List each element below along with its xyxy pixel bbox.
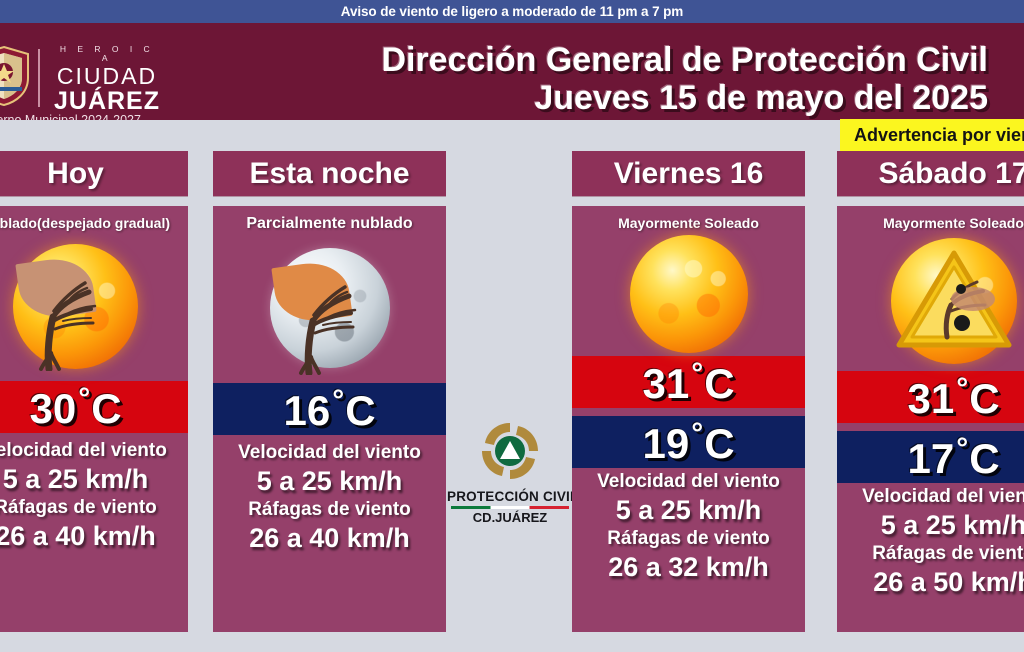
card-weather-icon [213, 233, 446, 383]
card-condition-text: Nublado(despejado gradual) [0, 206, 188, 231]
wind-gusts-label: Ráfagas de viento [0, 496, 188, 520]
card-high-temp-band: 31°C [572, 356, 805, 408]
card-day-header: Esta noche [213, 151, 446, 196]
wind-speed-label: Velocidad del viento [213, 441, 446, 465]
sun-icon [630, 235, 748, 353]
forecast-cards: Hoy Nublado(despejado gradual) [0, 120, 1024, 652]
wind-gusts-label: Ráfagas de viento [837, 542, 1024, 566]
card-body: Mayormente Soleado 31°C 19°C Velocidad d… [572, 206, 805, 632]
wind-speed-label: Velocidad del viento [0, 439, 188, 463]
card-low-temp-band: 19°C [572, 416, 805, 468]
wind-warning-triangle-icon [895, 249, 1013, 351]
card-day-label: Viernes 16 [614, 159, 764, 189]
card-body: Mayormente Soleado [837, 206, 1024, 632]
city-coat-of-arms-icon [0, 45, 30, 107]
proteccion-civil-logo: PROTECCIÓN CIVIL CD.JUÁREZ [447, 420, 573, 525]
page-title: Dirección General de Protección Civil [381, 41, 988, 79]
card-day-label: Sábado 17 [878, 159, 1024, 189]
card-body: Parcialmente nublado [213, 206, 446, 632]
wind-gusts-value: 26 a 40 km/h [213, 522, 446, 555]
card-day-header: Viernes 16 [572, 151, 805, 196]
wind-advisory-text: Aviso de viento de ligero a moderado de … [341, 4, 683, 19]
card-low-temp: 17°C [907, 434, 999, 480]
brand-divider [38, 49, 40, 107]
wind-speed-value: 5 a 25 km/h [572, 494, 805, 527]
card-day-label: Esta noche [249, 159, 409, 189]
card-wind-block: Velocidad del viento 5 a 25 km/h Ráfagas… [213, 435, 446, 554]
card-condition-text: Mayormente Soleado [837, 206, 1024, 231]
wind-speed-value: 5 a 25 km/h [213, 465, 446, 498]
wind-gusts-value: 26 a 40 km/h [0, 520, 188, 553]
forecast-card-hoy[interactable]: Hoy Nublado(despejado gradual) [0, 120, 188, 632]
forecast-card-sabado-17[interactable]: Advertencia por viento Sábado 17 Mayorme… [837, 120, 1024, 632]
card-condition-text: Mayormente Soleado [572, 206, 805, 231]
card-wind-block: Velocidad del viento 5 a 25 km/h Ráfagas… [837, 483, 1024, 598]
forecast-card-viernes-16[interactable]: Viernes 16 Mayormente Soleado 31°C 19°C … [572, 120, 805, 632]
forecast-card-esta-noche[interactable]: Esta noche Parcialmente nublado [213, 120, 446, 632]
card-high-temp-band: 31°C [837, 371, 1024, 423]
wind-speed-label: Velocidad del viento [837, 485, 1024, 509]
card-high-temp: 30°C [29, 384, 121, 430]
masthead-title: Dirección General de Protección Civil Ju… [381, 41, 988, 117]
wind-warning-banner: Advertencia por viento [840, 119, 1024, 151]
bare-tree-icon [279, 265, 365, 375]
wind-speed-value: 5 a 25 km/h [837, 509, 1024, 542]
card-day-header: Hoy [0, 151, 188, 196]
temp-band-gap [572, 408, 805, 416]
card-low-temp: 16°C [283, 386, 375, 432]
card-low-temp-band: 17°C [837, 431, 1024, 483]
card-wind-block: Velocidad del viento 5 a 25 km/h Ráfagas… [0, 433, 188, 552]
brand-juarez-label: JUÁREZ [52, 88, 162, 115]
page-date: Jueves 15 de mayo del 2025 [381, 79, 988, 117]
card-weather-icon [0, 231, 188, 381]
card-high-temp: 31°C [907, 374, 999, 420]
wind-gusts-label: Ráfagas de viento [213, 498, 446, 522]
wind-gusts-value: 26 a 50 km/h [837, 566, 1024, 599]
card-high-temp-band: 30°C [0, 381, 188, 433]
wind-gusts-label: Ráfagas de viento [572, 527, 805, 551]
brand-gobierno-label: Gobierno Municipal 2024-2027 [0, 113, 170, 120]
wind-speed-value: 5 a 25 km/h [0, 463, 188, 496]
card-low-temp: 19°C [642, 419, 734, 465]
brand-ciudad-label: CIUDAD [52, 65, 162, 88]
bare-tree-icon [19, 261, 105, 371]
city-brand: H E R O I C A CIUDAD JUÁREZ [52, 45, 162, 115]
proteccion-civil-subtitle: CD.JUÁREZ [447, 510, 573, 525]
card-wind-block: Velocidad del viento 5 a 25 km/h Ráfagas… [572, 468, 805, 583]
masthead: H E R O I C A CIUDAD JUÁREZ Gobierno Mun… [0, 23, 1024, 120]
proteccion-civil-emblem-icon [479, 420, 541, 482]
mexico-flag-rule [451, 506, 569, 509]
card-high-temp: 31°C [642, 359, 734, 405]
temp-band-gap [837, 423, 1024, 431]
wind-speed-label: Velocidad del viento [572, 470, 805, 494]
proteccion-civil-title: PROTECCIÓN CIVIL [447, 489, 573, 504]
card-low-temp-band: 16°C [213, 383, 446, 435]
card-day-label: Hoy [47, 159, 104, 189]
card-weather-icon [572, 231, 805, 356]
card-body: Nublado(despejado gradual) [0, 206, 188, 632]
wind-warning-text: Advertencia por viento [840, 125, 1024, 146]
brand-heroica-label: H E R O I C A [52, 45, 162, 62]
wind-gusts-value: 26 a 32 km/h [572, 551, 805, 584]
wind-advisory-bar: Aviso de viento de ligero a moderado de … [0, 0, 1024, 23]
card-condition-text: Parcialmente nublado [213, 206, 446, 233]
card-day-header: Sábado 17 [837, 151, 1024, 196]
card-weather-icon [837, 231, 1024, 371]
